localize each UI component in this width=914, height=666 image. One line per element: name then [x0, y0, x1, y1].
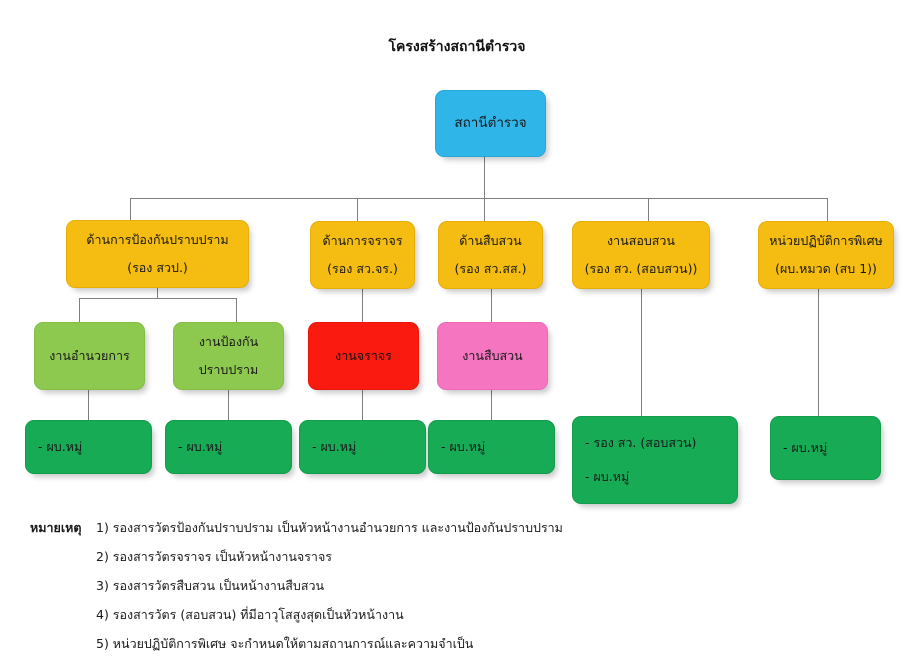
connector-l2-3-to-l3: [491, 289, 492, 322]
connector-drop-l3-2: [236, 298, 237, 322]
node-squad-leader-3[interactable]: - ผบ.หมู่: [299, 420, 426, 474]
node-root-line1: สถานีตำรวจ: [454, 114, 526, 134]
node-line1: - ผบ.หมู่: [312, 438, 356, 456]
node-line1: - รอง สว. (สอบสวน): [585, 434, 696, 452]
connector-drop-l2-1: [130, 198, 131, 220]
connector-l2-4-to-l4: [641, 289, 642, 416]
notes-label: หมายเหตุ: [30, 518, 96, 538]
node-line1: หน่วยปฏิบัติการพิเศษ: [769, 232, 883, 250]
connector-drop-l2-2: [357, 198, 358, 221]
connector-l3-1-to-l4: [88, 390, 89, 420]
node-line2: ปราบปราม: [199, 361, 259, 379]
connector-l3-3-to-l4: [362, 390, 363, 420]
node-line1: งานป้องกัน: [199, 333, 258, 351]
node-line1: - ผบ.หมู่: [178, 438, 222, 456]
node-squad-leader-5[interactable]: - ผบ.หมู่: [770, 416, 881, 480]
note-row: 4) รองสารวัตร (สอบสวน) ที่มีอาวุโสสูงสุด…: [30, 605, 750, 634]
node-traffic-work[interactable]: งานจราจร: [308, 322, 419, 390]
note-text-2: 2) รองสารวัตรจราจร เป็นหัวหน้างานจราจร: [96, 547, 332, 567]
node-line1: - ผบ.หมู่: [441, 438, 485, 456]
org-chart-canvas: โครงสร้างสถานีตำรวจ สถานีตำรวจ ด้านการป้…: [0, 0, 914, 666]
node-line2: (รอง สว. (สอบสวน)): [585, 260, 698, 278]
connector-l2-2-to-l3: [362, 289, 363, 322]
node-traffic-division[interactable]: ด้านการจราจร (รอง สว.จร.): [310, 221, 415, 289]
note-text-4: 4) รองสารวัตร (สอบสวน) ที่มีอาวุโสสูงสุด…: [96, 605, 404, 625]
node-line1: งานสอบสวน: [607, 232, 675, 250]
node-prevention-suppression[interactable]: ด้านการป้องกันปราบปราม (รอง สวป.): [66, 220, 249, 288]
node-line1: งานอำนวยการ: [49, 347, 129, 365]
note-text-5: 5) หน่วยปฏิบัติการพิเศษ จะกำหนดให้ตามสถา…: [96, 634, 473, 654]
page-title: โครงสร้างสถานีตำรวจ: [0, 36, 914, 58]
node-squad-leader-1[interactable]: - ผบ.หมู่: [25, 420, 152, 474]
connector-drop-l3-1: [79, 298, 80, 322]
node-prevention-work[interactable]: งานป้องกัน ปราบปราม: [173, 322, 284, 390]
connector-l3-4-to-l4: [491, 390, 492, 420]
node-inquiry-work[interactable]: งานสอบสวน (รอง สว. (สอบสวน)): [572, 221, 710, 289]
connector-root-stem: [484, 157, 485, 198]
connector-drop-l2-3: [484, 198, 485, 221]
note-text-1: 1) รองสารวัตรป้องกันปราบปราม เป็นหัวหน้า…: [96, 518, 563, 538]
node-line2: (รอง สว.จร.): [327, 260, 398, 278]
note-row: 3) รองสารวัตรสืบสวน เป็นหน้างานสืบสวน: [30, 576, 750, 605]
node-line1: ด้านการจราจร: [322, 232, 402, 250]
node-root-police-station[interactable]: สถานีตำรวจ: [435, 90, 546, 157]
node-administration-work[interactable]: งานอำนวยการ: [34, 322, 145, 390]
node-special-operations-unit[interactable]: หน่วยปฏิบัติการพิเศษ (ผบ.หมวด (สบ 1)): [758, 221, 894, 289]
connector-l2-5-to-l4: [818, 289, 819, 416]
node-inquiry-staff[interactable]: - รอง สว. (สอบสวน) - ผบ.หมู่: [572, 416, 738, 504]
node-line1: - ผบ.หมู่: [783, 439, 827, 457]
node-squad-leader-2[interactable]: - ผบ.หมู่: [165, 420, 292, 474]
node-investigation-division[interactable]: ด้านสืบสวน (รอง สว.สส.): [438, 221, 543, 289]
node-line1: ด้านการป้องกันปราบปราม: [86, 231, 228, 249]
node-line2: (รอง สวป.): [127, 259, 188, 277]
node-squad-leader-4[interactable]: - ผบ.หมู่: [428, 420, 555, 474]
note-row: หมายเหตุ 1) รองสารวัตรป้องกันปราบปราม เป…: [30, 518, 750, 547]
connector-l3-2-to-l4: [228, 390, 229, 420]
node-line1: งานสืบสวน: [462, 347, 522, 365]
connector-drop-l2-4: [648, 198, 649, 221]
node-line2: (ผบ.หมวด (สบ 1)): [775, 260, 877, 278]
note-text-3: 3) รองสารวัตรสืบสวน เป็นหน้างานสืบสวน: [96, 576, 324, 596]
note-row: 2) รองสารวัตรจราจร เป็นหัวหน้างานจราจร: [30, 547, 750, 576]
node-line1: - ผบ.หมู่: [38, 438, 82, 456]
notes-block: หมายเหตุ 1) รองสารวัตรป้องกันปราบปราม เป…: [30, 518, 750, 663]
node-detective-work[interactable]: งานสืบสวน: [437, 322, 548, 390]
node-line1: ด้านสืบสวน: [459, 232, 521, 250]
note-row: 5) หน่วยปฏิบัติการพิเศษ จะกำหนดให้ตามสถา…: [30, 634, 750, 663]
node-line2: (รอง สว.สส.): [455, 260, 527, 278]
node-line2: - ผบ.หมู่: [585, 468, 629, 486]
connector-bus-l3-left: [79, 298, 236, 299]
node-line1: งานจราจร: [335, 347, 392, 365]
connector-level2-bus: [130, 198, 827, 199]
connector-drop-l2-5: [827, 198, 828, 221]
